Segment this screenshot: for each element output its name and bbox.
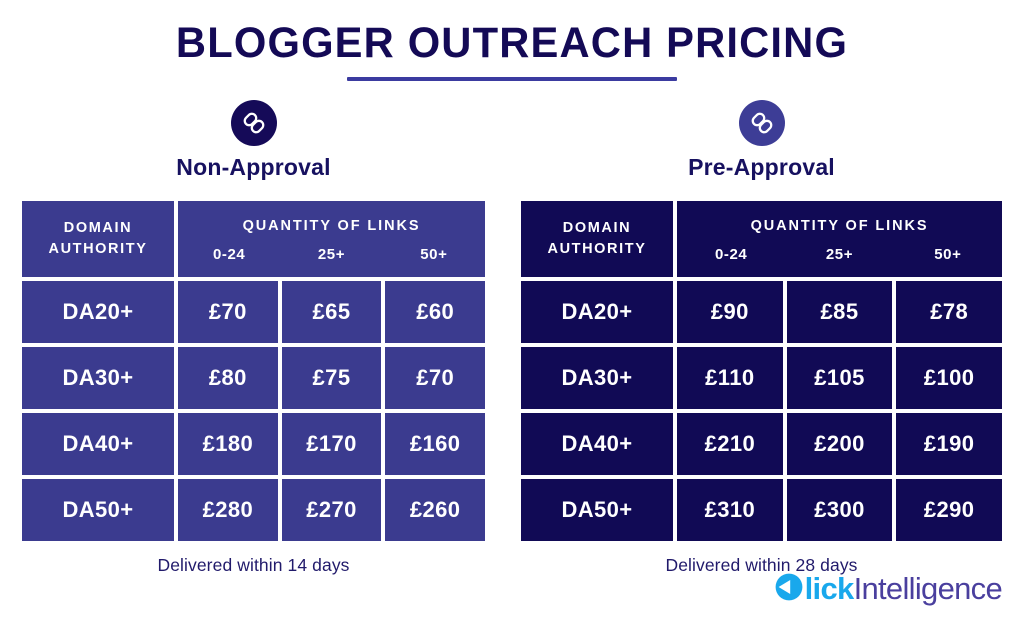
row-label-da50: DA50+ (521, 479, 673, 541)
page-header: BLOGGER OUTREACH PRICING (0, 18, 1024, 81)
row-label-da50: DA50+ (22, 479, 174, 541)
brand-logo: lick Intelligence (774, 572, 1002, 606)
pricing-column-pre-approval: Pre-Approval DOMAIN AUTHORITY QUANTITY O… (521, 100, 1002, 576)
delivery-note-non-approval: Delivered within 14 days (22, 555, 485, 576)
table-row: DA30+ £80 £75 £70 (22, 347, 485, 409)
chain-link-icon (739, 100, 785, 146)
table-row: DA20+ £70 £65 £60 (22, 281, 485, 343)
quantity-subheader-0-24: 0-24 (178, 246, 280, 263)
quantity-subheader-50-plus: 50+ (894, 246, 1002, 263)
price-cell: £100 (896, 347, 1002, 409)
price-cell: £190 (896, 413, 1002, 475)
price-cell: £78 (896, 281, 1002, 343)
table-row: DA50+ £280 £270 £260 (22, 479, 485, 541)
table-header-row: DOMAIN AUTHORITY QUANTITY OF LINKS 0-24 … (22, 201, 485, 277)
row-label-da20: DA20+ (521, 281, 673, 343)
table-header-row: DOMAIN AUTHORITY QUANTITY OF LINKS 0-24 … (521, 201, 1002, 277)
plan-header-non-approval: Non-Approval (22, 100, 485, 181)
chain-link-icon (231, 100, 277, 146)
price-cell: £300 (787, 479, 893, 541)
page-title: BLOGGER OUTREACH PRICING (15, 18, 1008, 68)
table-row: DA40+ £180 £170 £160 (22, 413, 485, 475)
price-cell: £310 (677, 479, 783, 541)
table-row: DA30+ £110 £105 £100 (521, 347, 1002, 409)
price-cell: £85 (787, 281, 893, 343)
price-cell: £270 (282, 479, 382, 541)
quantity-subheader-25-plus: 25+ (785, 246, 893, 263)
title-underline (347, 77, 677, 81)
price-cell: £75 (282, 347, 382, 409)
price-cell: £80 (178, 347, 278, 409)
price-cell: £160 (385, 413, 485, 475)
price-cell: £110 (677, 347, 783, 409)
click-c-icon (774, 572, 804, 607)
price-cell: £290 (896, 479, 1002, 541)
price-cell: £180 (178, 413, 278, 475)
price-cell: £90 (677, 281, 783, 343)
price-cell: £70 (385, 347, 485, 409)
price-cell: £200 (787, 413, 893, 475)
table-row: DA40+ £210 £200 £190 (521, 413, 1002, 475)
column-header-quantity-of-links: QUANTITY OF LINKS 0-24 25+ 50+ (677, 201, 1002, 277)
table-row: DA20+ £90 £85 £78 (521, 281, 1002, 343)
table-row: DA50+ £310 £300 £290 (521, 479, 1002, 541)
plan-label-pre-approval: Pre-Approval (521, 154, 1002, 181)
pricing-table-non-approval: DOMAIN AUTHORITY QUANTITY OF LINKS 0-24 … (22, 201, 485, 541)
row-label-da40: DA40+ (521, 413, 673, 475)
domain-authority-line-2: AUTHORITY (548, 241, 647, 257)
quantity-subheader-50-plus: 50+ (383, 246, 485, 263)
quantity-subheaders: 0-24 25+ 50+ (178, 246, 485, 263)
price-cell: £60 (385, 281, 485, 343)
row-label-da30: DA30+ (22, 347, 174, 409)
quantity-of-links-title: QUANTITY OF LINKS (751, 218, 929, 234)
row-label-da20: DA20+ (22, 281, 174, 343)
column-header-domain-authority: DOMAIN AUTHORITY (521, 201, 673, 277)
column-header-quantity-of-links: QUANTITY OF LINKS 0-24 25+ 50+ (178, 201, 485, 277)
quantity-subheader-0-24: 0-24 (677, 246, 785, 263)
price-cell: £170 (282, 413, 382, 475)
pricing-table-pre-approval: DOMAIN AUTHORITY QUANTITY OF LINKS 0-24 … (521, 201, 1002, 541)
domain-authority-line-1: DOMAIN (64, 220, 132, 236)
price-cell: £260 (385, 479, 485, 541)
logo-text-click: lick (805, 571, 854, 607)
domain-authority-line-1: DOMAIN (563, 220, 631, 236)
pricing-column-non-approval: Non-Approval DOMAIN AUTHORITY QUANTITY O… (22, 100, 485, 576)
plan-header-pre-approval: Pre-Approval (521, 100, 1002, 181)
row-label-da40: DA40+ (22, 413, 174, 475)
column-header-domain-authority: DOMAIN AUTHORITY (22, 201, 174, 277)
price-cell: £70 (178, 281, 278, 343)
price-cell: £210 (677, 413, 783, 475)
domain-authority-line-2: AUTHORITY (49, 241, 148, 257)
pricing-infographic: BLOGGER OUTREACH PRICING Non-Approval DO… (0, 0, 1024, 622)
quantity-subheader-25-plus: 25+ (280, 246, 382, 263)
quantity-subheaders: 0-24 25+ 50+ (677, 246, 1002, 263)
quantity-of-links-title: QUANTITY OF LINKS (243, 218, 421, 234)
price-cell: £65 (282, 281, 382, 343)
row-label-da30: DA30+ (521, 347, 673, 409)
price-cell: £280 (178, 479, 278, 541)
plan-label-non-approval: Non-Approval (22, 154, 485, 181)
logo-text-intelligence: Intelligence (854, 571, 1002, 607)
price-cell: £105 (787, 347, 893, 409)
